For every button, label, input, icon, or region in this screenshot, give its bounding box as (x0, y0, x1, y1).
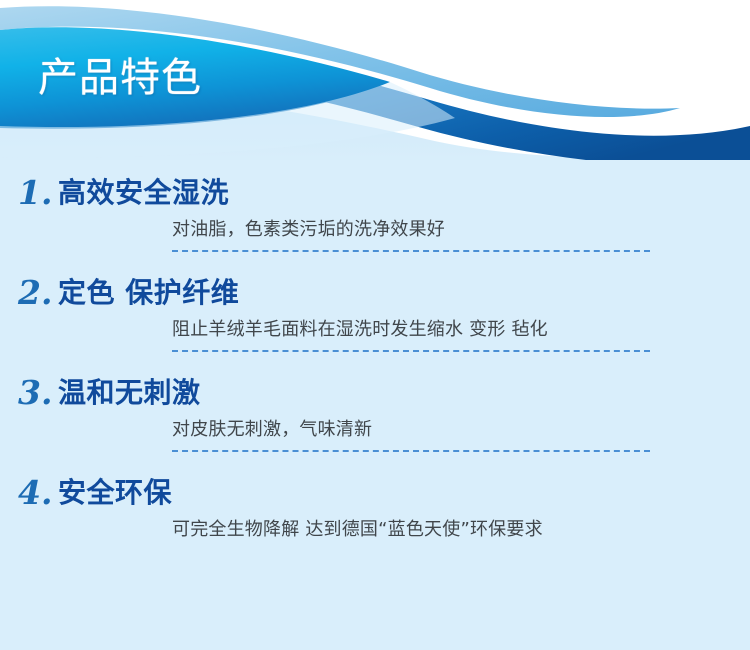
feature-description-2: 阻止羊绒羊毛面料在湿洗时发生缩水 变形 毡化 (172, 317, 750, 343)
feature-description-4: 可完全生物降解 达到德国“蓝色天使”环保要求 (172, 517, 750, 543)
feature-heading-1: 高效安全湿洗 (58, 174, 229, 212)
feature-headline-row: 2. 定色 保护纤维 (0, 274, 750, 312)
feature-description-1: 对油脂，色素类污垢的洗净效果好 (172, 217, 750, 243)
feature-heading-3: 温和无刺激 (58, 374, 201, 412)
feature-heading-4: 安全环保 (58, 474, 172, 512)
feature-index-3: 3. (0, 374, 58, 412)
feature-description-3: 对皮肤无刺激，气味清新 (172, 417, 750, 443)
feature-list: 1. 高效安全湿洗 对油脂，色素类污垢的洗净效果好 2. 定色 保护纤维 阻止羊… (0, 160, 750, 543)
feature-item-1: 1. 高效安全湿洗 对油脂，色素类污垢的洗净效果好 (0, 174, 750, 252)
feature-index-4: 4. (0, 474, 58, 512)
feature-index-2: 2. (0, 274, 58, 312)
feature-divider-1 (172, 250, 650, 252)
feature-headline-row: 4. 安全环保 (0, 474, 750, 512)
feature-heading-2: 定色 保护纤维 (58, 274, 239, 312)
feature-headline-row: 1. 高效安全湿洗 (0, 174, 750, 212)
header-banner: 产品特色 (0, 0, 750, 160)
page-title: 产品特色 (38, 54, 202, 102)
feature-index-1: 1. (0, 174, 58, 212)
feature-item-3: 3. 温和无刺激 对皮肤无刺激，气味清新 (0, 374, 750, 452)
feature-item-2: 2. 定色 保护纤维 阻止羊绒羊毛面料在湿洗时发生缩水 变形 毡化 (0, 274, 750, 352)
feature-headline-row: 3. 温和无刺激 (0, 374, 750, 412)
feature-item-4: 4. 安全环保 可完全生物降解 达到德国“蓝色天使”环保要求 (0, 474, 750, 543)
feature-divider-2 (172, 350, 650, 352)
product-features-page: 产品特色 1. 高效安全湿洗 对油脂，色素类污垢的洗净效果好 2. 定色 保护纤… (0, 0, 750, 650)
feature-divider-3 (172, 450, 650, 452)
